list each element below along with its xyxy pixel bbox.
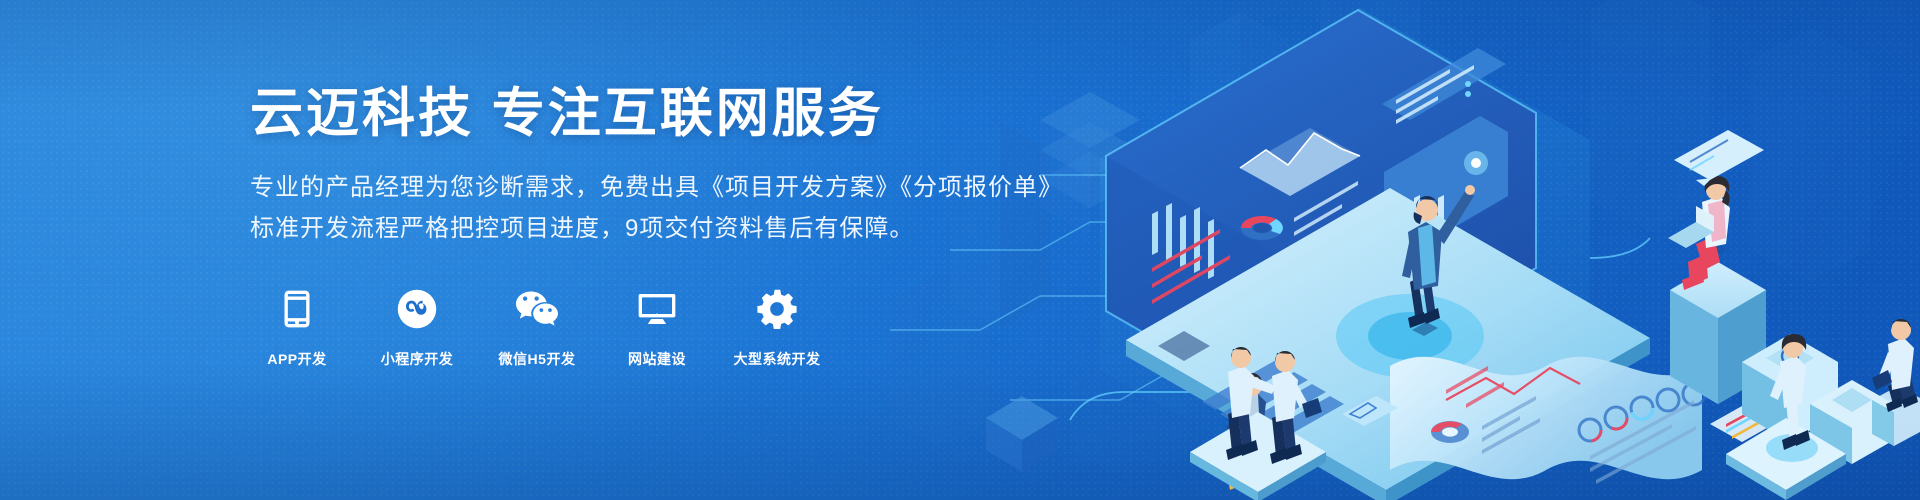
wechat-chat-icon — [511, 283, 563, 335]
service-item-mini-program[interactable]: 小程序开发 — [370, 283, 464, 369]
hero-banner: 云迈科技 专注互联网服务 专业的产品经理为您诊断需求，免费出具《项目开发方案》《… — [0, 0, 1920, 500]
mini-program-icon — [391, 283, 443, 335]
subtitle-line-2: 标准开发流程严格把控项目进度，9项交付资料售后有保障。 — [250, 210, 1130, 249]
service-item-large-system[interactable]: 大型系统开发 — [730, 283, 824, 369]
service-list: APP开发 小程序开发 微信H5开发 — [250, 283, 824, 369]
desktop-monitor-icon — [631, 283, 683, 335]
service-label: 网站建设 — [628, 349, 686, 369]
mobile-phone-icon — [271, 283, 323, 335]
isometric-data-dashboard-illustration — [890, 0, 1920, 500]
hero-copy: 云迈科技 专注互联网服务 专业的产品经理为您诊断需求，免费出具《项目开发方案》《… — [250, 84, 1130, 249]
service-label: 大型系统开发 — [734, 349, 821, 369]
subtitle-line-1: 专业的产品经理为您诊断需求，免费出具《项目开发方案》《分项报价单》 — [250, 169, 1130, 208]
service-label: 小程序开发 — [381, 349, 454, 369]
service-label: APP开发 — [267, 349, 326, 369]
service-label: 微信H5开发 — [499, 349, 576, 369]
service-item-website[interactable]: 网站建设 — [610, 283, 704, 369]
service-item-app[interactable]: APP开发 — [250, 283, 344, 369]
service-item-wechat-h5[interactable]: 微信H5开发 — [490, 283, 584, 369]
gear-icon — [751, 283, 803, 335]
page-title: 云迈科技 专注互联网服务 — [250, 84, 1130, 143]
